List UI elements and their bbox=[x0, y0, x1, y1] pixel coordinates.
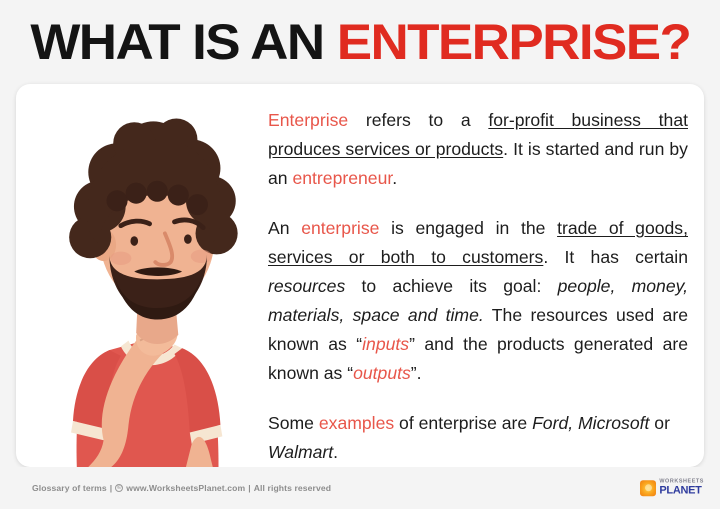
worksheets-planet-logo[interactable]: WORKSHEETS PLANET bbox=[640, 479, 704, 496]
paragraph-3: Some examples of enterprise are Ford, Mi… bbox=[268, 409, 688, 467]
content-card: Enterprise refers to a for-profit busine… bbox=[16, 84, 704, 467]
page-title-highlight: ENTERPRISE? bbox=[336, 14, 690, 70]
glossary-label: Glossary of terms bbox=[32, 483, 107, 493]
p2-run-2: is engaged in the bbox=[379, 218, 557, 238]
p1-run-5: . bbox=[392, 168, 397, 188]
thinking-man-illustration bbox=[16, 84, 264, 467]
paragraph-1: Enterprise refers to a for-profit busine… bbox=[268, 106, 688, 193]
footer-credits: Glossary of terms | © www.WorksheetsPlan… bbox=[32, 483, 331, 493]
p3-run-6: . bbox=[333, 442, 338, 462]
logo-bottom-line: PLANET bbox=[659, 486, 704, 497]
example-companies-2: Walmart bbox=[268, 442, 333, 462]
copyright-icon: © bbox=[115, 484, 123, 492]
paragraph-2: An enterprise is engaged in the trade of… bbox=[268, 214, 688, 388]
page-title-plain: WHAT IS AN bbox=[30, 14, 336, 70]
title-bar: WHAT IS AN ENTERPRISE? bbox=[0, 0, 720, 84]
term-outputs: outputs bbox=[353, 363, 411, 383]
rights-label: All rights reserved bbox=[254, 483, 331, 493]
p3-run-4: or bbox=[649, 413, 670, 433]
p3-run-2: of enterprise are bbox=[394, 413, 532, 433]
p2-run-0: An bbox=[268, 218, 301, 238]
example-companies-1: Ford, Microsoft bbox=[532, 413, 649, 433]
definition-text: Enterprise refers to a for-profit busine… bbox=[264, 84, 704, 467]
term-entrepreneur: entrepreneur bbox=[292, 168, 392, 188]
p1-run-1: refers to a bbox=[348, 110, 488, 130]
p2-run-12: ”. bbox=[411, 363, 422, 383]
p2-run-4: . It has certain bbox=[543, 247, 688, 267]
logo-wordmark: WORKSHEETS PLANET bbox=[659, 479, 704, 496]
term-enterprise: Enterprise bbox=[268, 110, 348, 130]
term-examples: examples bbox=[319, 413, 394, 433]
p2-run-6: to achieve its goal: bbox=[345, 276, 557, 296]
footer-separator-2: | bbox=[248, 483, 251, 493]
footer-separator-1: | bbox=[110, 483, 113, 493]
term-resources: resources bbox=[268, 276, 345, 296]
site-url-link[interactable]: www.WorksheetsPlanet.com bbox=[126, 483, 245, 493]
footer-bar: Glossary of terms | © www.WorksheetsPlan… bbox=[0, 467, 720, 509]
planet-sun-icon bbox=[640, 480, 656, 496]
page-title: WHAT IS AN ENTERPRISE? bbox=[30, 17, 690, 67]
worksheet-page: WHAT IS AN ENTERPRISE? bbox=[0, 0, 720, 509]
p3-run-0: Some bbox=[268, 413, 319, 433]
illustration-container bbox=[16, 84, 264, 467]
term-enterprise-2: enterprise bbox=[301, 218, 379, 238]
term-inputs: inputs bbox=[362, 334, 409, 354]
